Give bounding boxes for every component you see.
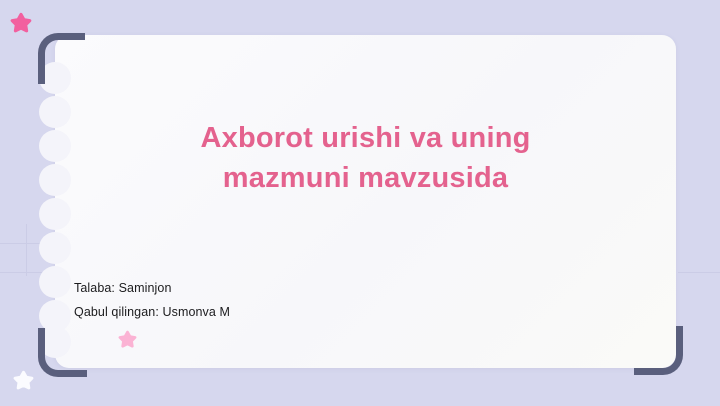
grid-line-horizontal-right (678, 272, 720, 273)
scallop-notch (39, 266, 71, 298)
corner-bracket-bottom-left-icon (38, 328, 87, 377)
grid-line-vertical (26, 224, 27, 276)
presentation-slide: Axborot urishi va uning mazmuni mavzusid… (0, 0, 720, 406)
credit-student: Talaba: Saminjon (74, 281, 172, 295)
slide-title-line-2: mazmuni mavzusida (55, 158, 676, 198)
star-bottom-left-icon (13, 370, 34, 391)
scallop-notch (39, 232, 71, 264)
slide-title-line-1: Axborot urishi va uning (55, 118, 676, 158)
corner-bracket-bottom-right-icon (634, 326, 683, 375)
credit-teacher: Qabul qilingan: Usmonva M (74, 305, 230, 319)
corner-bracket-top-left-icon (38, 33, 85, 84)
slide-title: Axborot urishi va uning mazmuni mavzusid… (55, 118, 676, 198)
star-middle-pink-icon (118, 330, 137, 349)
scallop-notch (39, 198, 71, 230)
star-top-left-icon (10, 12, 32, 34)
